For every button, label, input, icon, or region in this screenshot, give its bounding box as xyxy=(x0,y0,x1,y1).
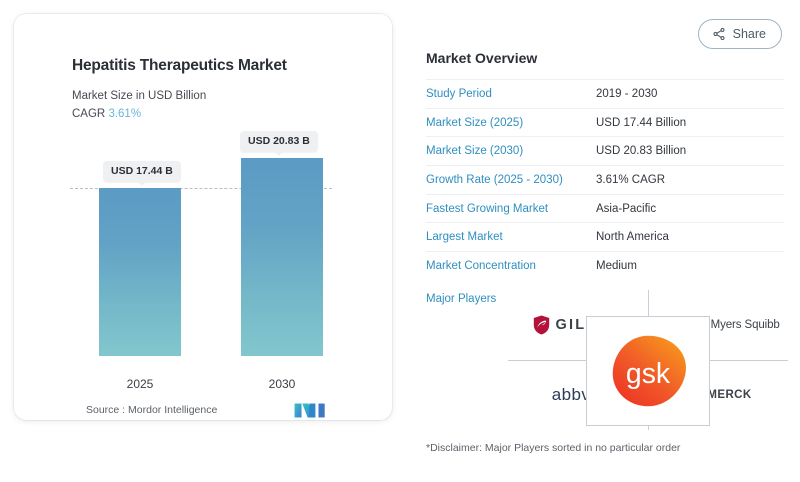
bar-2025[interactable] xyxy=(99,188,181,356)
mordor-intelligence-logo xyxy=(293,402,327,419)
gsk-logo-icon: gsk xyxy=(605,333,691,409)
row-value-largest-market: North America xyxy=(596,231,669,243)
row-value-study-period: 2019 - 2030 xyxy=(596,88,657,100)
x-axis-tick-2030: 2030 xyxy=(241,377,323,391)
bar-chart-plot: USD 17.44 B USD 20.83 B 2025 2030 xyxy=(14,14,392,420)
players-disclaimer: *Disclaimer: Major Players sorted in no … xyxy=(426,442,680,454)
market-overview-title: Market Overview xyxy=(426,50,784,66)
table-row: Fastest Growing Market Asia-Pacific xyxy=(426,194,784,223)
row-value-fastest-growing-market: Asia-Pacific xyxy=(596,203,656,215)
row-label-study-period: Study Period xyxy=(426,88,596,100)
share-button[interactable]: Share xyxy=(698,19,782,49)
major-players-title: Major Players xyxy=(426,293,496,305)
chart-card: Hepatitis Therapeutics Market Market Siz… xyxy=(14,14,392,420)
bar-label-2025: USD 17.44 B xyxy=(103,161,181,182)
player-cell-gsk: gsk xyxy=(586,316,710,426)
table-row: Market Size (2030) USD 20.83 Billion xyxy=(426,136,784,165)
row-value-market-concentration: Medium xyxy=(596,260,637,272)
row-label-market-concentration: Market Concentration xyxy=(426,260,596,272)
bar-2030[interactable] xyxy=(241,158,323,356)
table-row: Growth Rate (2025 - 2030) 3.61% CAGR xyxy=(426,165,784,194)
table-row: Market Concentration Medium xyxy=(426,251,784,280)
table-row: Study Period 2019 - 2030 xyxy=(426,79,784,108)
gilead-shield-icon xyxy=(533,315,550,335)
share-button-label: Share xyxy=(733,27,766,41)
x-axis-tick-2025: 2025 xyxy=(99,377,181,391)
table-row: Market Size (2025) USD 17.44 Billion xyxy=(426,108,784,137)
row-label-growth-rate: Growth Rate (2025 - 2030) xyxy=(426,174,596,186)
bar-label-2030: USD 20.83 B xyxy=(240,131,318,152)
major-players-grid: GILEAD Bristol Myers Squibb abbvie xyxy=(508,290,788,430)
row-value-market-size-2025: USD 17.44 Billion xyxy=(596,117,686,129)
chart-source: Source : Mordor Intelligence xyxy=(86,404,217,416)
row-label-market-size-2025: Market Size (2025) xyxy=(426,117,596,129)
merck-logo-text: MERCK xyxy=(707,389,751,401)
row-value-market-size-2030: USD 20.83 Billion xyxy=(596,145,686,157)
gsk-logo-text: gsk xyxy=(626,358,671,390)
row-label-largest-market: Largest Market xyxy=(426,231,596,243)
table-row: Largest Market North America xyxy=(426,222,784,251)
row-label-fastest-growing-market: Fastest Growing Market xyxy=(426,203,596,215)
market-summary-page: Share Hepatitis Therapeutics Market Mark… xyxy=(0,0,800,482)
market-overview-panel: Market Overview Study Period 2019 - 2030… xyxy=(426,50,784,280)
share-nodes-icon xyxy=(712,27,726,41)
row-value-growth-rate: 3.61% CAGR xyxy=(596,174,665,186)
row-label-market-size-2030: Market Size (2030) xyxy=(426,145,596,157)
